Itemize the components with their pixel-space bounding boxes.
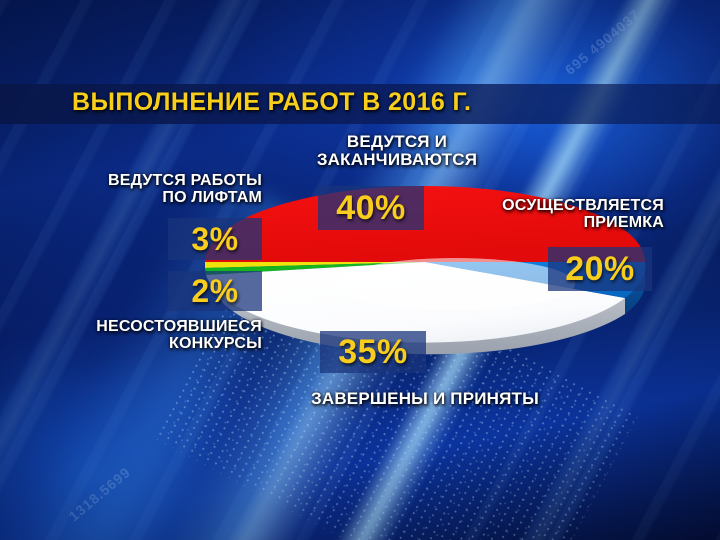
label-acceptance: ОСУЩЕСТВЛЯЕТСЯ ПРИЕМКА: [448, 197, 664, 232]
percent-lifts: 3%: [168, 218, 262, 260]
page-title: ВЫПОЛНЕНИЕ РАБОТ В 2016 Г.: [72, 88, 471, 117]
percent-ongoing: 40%: [318, 186, 424, 230]
percent-done: 35%: [320, 331, 426, 373]
label-failed: НЕСОСТОЯВШИЕСЯ КОНКУРСЫ: [54, 318, 262, 353]
infographic-screen: 695 4904037 1318.5699 ВЫПОЛНЕНИЕ РАБОТ В…: [0, 0, 720, 540]
percent-failed: 2%: [168, 271, 262, 311]
pie-highlight: [335, 258, 575, 310]
label-lifts: ВЕДУТСЯ РАБОТЫ ПО ЛИФТАМ: [66, 172, 262, 207]
label-ongoing: ВЕДУТСЯ И ЗАКАНЧИВАЮТСЯ: [288, 133, 506, 170]
percent-acceptance: 20%: [548, 247, 652, 291]
label-done: ЗАВЕРШЕНЫ И ПРИНЯТЫ: [290, 390, 560, 408]
